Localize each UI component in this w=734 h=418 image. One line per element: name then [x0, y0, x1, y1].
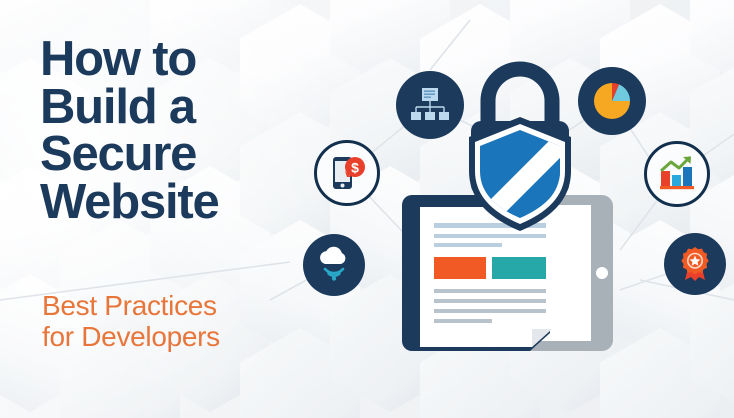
- page-title: How to Build a Secure Website: [40, 36, 219, 226]
- cloud-wifi-glyph: [314, 245, 354, 285]
- subhead-line-1: Best Practices: [42, 291, 220, 322]
- sitemap-icon[interactable]: [396, 71, 464, 139]
- growth-chart-glyph: [656, 153, 698, 195]
- growth-chart-icon[interactable]: [644, 141, 710, 207]
- award-badge-icon[interactable]: [664, 233, 726, 295]
- award-badge-glyph: [676, 245, 714, 283]
- cloud-wifi-icon[interactable]: [303, 234, 365, 296]
- subhead-line-2: for Developers: [42, 322, 220, 353]
- sitemap-glyph: [409, 84, 451, 126]
- headline-line-4: Website: [40, 179, 219, 227]
- padlock-shield-graphic: [455, 55, 585, 240]
- headline-line-3: Secure: [40, 131, 219, 179]
- mobile-payment-glyph: $: [325, 151, 369, 195]
- headline-line-2: Build a: [40, 84, 219, 132]
- pie-chart-glyph: [590, 79, 634, 123]
- pie-chart-icon[interactable]: [578, 67, 646, 135]
- page-subtitle: Best Practices for Developers: [42, 291, 220, 353]
- banner-root: How to Build a Secure Website Best Pract…: [0, 0, 734, 418]
- teal-content-block: [492, 257, 546, 279]
- svg-text:$: $: [351, 160, 359, 176]
- orange-content-block: [434, 257, 486, 279]
- headline-line-1: How to: [40, 36, 219, 84]
- mobile-payment-icon[interactable]: $: [314, 140, 380, 206]
